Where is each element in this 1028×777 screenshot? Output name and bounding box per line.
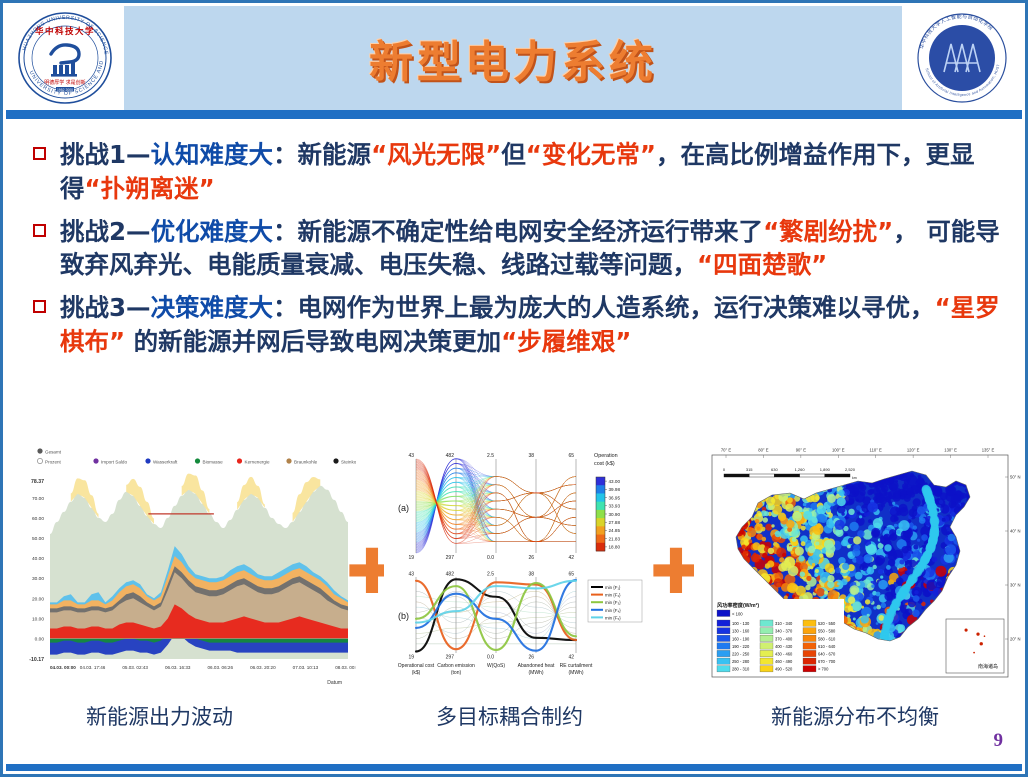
hust-logo: 华中科技大学 明德厚学 求是创新 1952 2000 HUAZHONG UNIV… <box>6 6 124 110</box>
svg-text:110° E: 110° E <box>870 448 883 453</box>
svg-text:19: 19 <box>408 655 414 661</box>
svg-text:482: 482 <box>446 572 455 578</box>
svg-text:W(QoS): W(QoS) <box>487 663 505 669</box>
bullet-1-seg-4: 但 <box>501 140 526 169</box>
svg-text:Abandoned heat: Abandoned heat <box>518 663 555 669</box>
svg-text:30° N: 30° N <box>1010 583 1021 588</box>
svg-text:50° N: 50° N <box>1010 475 1021 480</box>
svg-text:Steinkohle: Steinkohle <box>341 460 356 465</box>
svg-text:Carbon emission: Carbon emission <box>437 663 475 669</box>
slide-root: 华中科技大学 明德厚学 求是创新 1952 2000 HUAZHONG UNIV… <box>0 0 1028 777</box>
svg-text:70.00: 70.00 <box>32 496 44 502</box>
svg-text:630: 630 <box>771 467 778 472</box>
svg-text:(MWh): (MWh) <box>529 670 544 676</box>
svg-text:18.80: 18.80 <box>609 545 621 550</box>
svg-text:Braunkohle: Braunkohle <box>294 460 318 465</box>
svg-text:100° E: 100° E <box>832 448 845 453</box>
svg-text:20° N: 20° N <box>1010 637 1021 642</box>
svg-text:Biomasse: Biomasse <box>203 460 224 465</box>
svg-text:06.03. 16:33: 06.03. 16:33 <box>165 665 191 670</box>
svg-text:南海诸岛: 南海诸岛 <box>978 663 998 670</box>
svg-text:20.00: 20.00 <box>32 596 44 602</box>
svg-text:< 100: < 100 <box>732 611 743 616</box>
bullet-3-seg-4: 的新能源并网后导致电网决策更加 <box>125 327 501 356</box>
bullet-2-seg-5: “四面楚歌” <box>697 250 827 279</box>
caption-2: 多目标耦合制约 <box>436 701 583 731</box>
svg-text:0.0: 0.0 <box>487 555 494 561</box>
svg-text:430 - 460: 430 - 460 <box>775 652 793 657</box>
svg-text:640 - 670: 640 - 670 <box>818 652 836 657</box>
svg-text:42: 42 <box>568 555 574 561</box>
svg-text:40° N: 40° N <box>1010 529 1021 534</box>
slide-title: 新型电力系统 <box>124 26 902 90</box>
svg-text:min {F₃}: min {F₃} <box>605 600 621 605</box>
parallel-coordinates-chart: (a)43194822972.50.038266542Operationcost… <box>384 441 646 695</box>
svg-text:120° E: 120° E <box>907 448 920 453</box>
svg-text:(a): (a) <box>398 503 409 513</box>
svg-text:490 - 520: 490 - 520 <box>775 667 793 672</box>
svg-text:30.00: 30.00 <box>32 576 44 582</box>
aia-logo: 华中科技大学人工智能与自动化学院 School of Artificial In… <box>902 6 1022 110</box>
svg-text:19: 19 <box>408 555 414 561</box>
svg-text:km: km <box>852 476 857 480</box>
svg-text:33.93: 33.93 <box>609 504 621 509</box>
svg-text:70° E: 70° E <box>721 448 731 453</box>
svg-text:min {F₂}: min {F₂} <box>605 593 621 598</box>
svg-text:Import Saldo: Import Saldo <box>101 460 127 465</box>
svg-text:30.90: 30.90 <box>609 512 621 517</box>
svg-text:min {F₁}: min {F₁} <box>605 585 621 590</box>
svg-text:610 - 640: 610 - 640 <box>818 644 836 649</box>
svg-text:明德厚学 求是创新: 明德厚学 求是创新 <box>44 79 85 86</box>
svg-text:40.00: 40.00 <box>32 556 44 562</box>
bullet-3-seg-2: ：电网作为世界上最为庞大的人造系统，运行决策难以寻优， <box>273 293 935 322</box>
bullet-text-2: 挑战2—优化难度大：新能源不确定性给电网安全经济运行带来了“繁剧纷扰”， 可能导… <box>60 215 1003 283</box>
svg-text:297: 297 <box>446 555 455 561</box>
svg-text:43: 43 <box>408 572 414 578</box>
svg-text:10.00: 10.00 <box>32 616 44 622</box>
svg-text:482: 482 <box>446 453 455 459</box>
svg-text:风功率密度(W/m²): 风功率密度(W/m²) <box>717 601 759 609</box>
svg-text:cost (k$): cost (k$) <box>594 461 615 467</box>
bullet-marker-icon <box>33 147 46 160</box>
svg-text:-10.17: -10.17 <box>29 657 44 663</box>
svg-text:(ton): (ton) <box>451 670 462 676</box>
svg-text:297: 297 <box>446 655 455 661</box>
svg-text:Gesamt: Gesamt <box>45 450 62 455</box>
svg-text:0.00: 0.00 <box>35 637 45 643</box>
bullet-3-seg-0: 挑战3— <box>60 293 151 322</box>
bullet-1-seg-5: “变化无常” <box>526 140 656 169</box>
svg-text:160 - 190: 160 - 190 <box>732 636 750 641</box>
figure-captions: 新能源出力波动 多目标耦合制约 新能源分布不均衡 <box>6 701 1022 737</box>
svg-text:26: 26 <box>528 655 534 661</box>
svg-text:580 - 610: 580 - 610 <box>818 636 836 641</box>
bullet-2-seg-3: “繁剧纷扰” <box>763 217 893 246</box>
svg-text:2.5: 2.5 <box>487 572 494 578</box>
svg-text:Datum: Datum <box>327 680 342 686</box>
svg-text:(MWh): (MWh) <box>569 670 584 676</box>
svg-text:(k$): (k$) <box>412 670 421 676</box>
svg-text:min {F₅}: min {F₅} <box>605 615 621 620</box>
svg-text:100 - 130: 100 - 130 <box>732 621 750 626</box>
bullet-1-seg-1: 认知难度大 <box>151 140 274 169</box>
svg-text:310 - 340: 310 - 340 <box>775 621 793 626</box>
svg-text:90° E: 90° E <box>796 448 806 453</box>
svg-text:250 - 280: 250 - 280 <box>732 659 750 664</box>
svg-text:1,260: 1,260 <box>795 467 806 472</box>
svg-text:2.5: 2.5 <box>487 453 494 459</box>
svg-text:460 - 490: 460 - 490 <box>775 659 793 664</box>
svg-text:> 700: > 700 <box>818 667 829 672</box>
bullet-1-seg-2: ：新能源 <box>273 140 371 169</box>
svg-text:65: 65 <box>568 453 574 459</box>
svg-text:400 - 430: 400 - 430 <box>775 644 793 649</box>
footer-band <box>6 764 1022 771</box>
svg-text:550 - 580: 550 - 580 <box>818 629 836 634</box>
svg-text:0.0: 0.0 <box>487 655 494 661</box>
svg-text:RE curtailment: RE curtailment <box>560 663 593 669</box>
svg-text:Wasserkraft: Wasserkraft <box>153 460 178 465</box>
china-wind-density-map: 70° E80° E90° E100° E110° E120° E130° E1… <box>694 441 1024 691</box>
bullet-3-seg-1: 决策难度大 <box>151 293 274 322</box>
figure-row: GesamtProzentImport SaldoWasserkraftBiom… <box>6 441 1022 703</box>
bullet-list: 挑战1—认知难度大：新能源“风光无限”但“变化无常”，在高比例增益作用下，更显得… <box>33 138 1003 368</box>
bullet-2-seg-0: 挑战2— <box>60 217 151 246</box>
energy-stack-chart: GesamtProzentImport SaldoWasserkraftBiom… <box>10 441 356 695</box>
svg-text:65: 65 <box>568 572 574 578</box>
svg-text:315: 315 <box>746 467 753 472</box>
svg-text:21.83: 21.83 <box>609 536 621 541</box>
bullet-item-3: 挑战3—决策难度大：电网作为世界上最为庞大的人造系统，运行决策难以寻优，“星罗棋… <box>33 291 1003 359</box>
svg-text:220 - 250: 220 - 250 <box>732 652 750 657</box>
bullet-2-seg-1: 优化难度大 <box>151 217 274 246</box>
hust-seal-icon: 华中科技大学 明德厚学 求是创新 1952 2000 HUAZHONG UNIV… <box>11 10 119 106</box>
svg-text:07.03. 10:13: 07.03. 10:13 <box>293 665 319 670</box>
caption-3: 新能源分布不均衡 <box>771 701 939 731</box>
svg-text:38: 38 <box>528 453 534 459</box>
figure-china-wind-map: 70° E80° E90° E100° E110° E120° E130° E1… <box>694 441 1024 691</box>
svg-text:42: 42 <box>568 655 574 661</box>
svg-text:1,890: 1,890 <box>820 467 831 472</box>
svg-text:340 - 370: 340 - 370 <box>775 629 793 634</box>
svg-text:26: 26 <box>528 555 534 561</box>
bullet-text-3: 挑战3—决策难度大：电网作为世界上最为庞大的人造系统，运行决策难以寻优，“星罗棋… <box>60 291 1003 359</box>
svg-text:04.03. 17:46: 04.03. 17:46 <box>80 665 106 670</box>
caption-1: 新能源出力波动 <box>86 701 233 731</box>
figure-parallel-coords: (a)43194822972.50.038266542Operationcost… <box>384 441 646 695</box>
bullet-1-seg-0: 挑战1— <box>60 140 151 169</box>
svg-text:06.03. 20:20: 06.03. 20:20 <box>250 665 276 670</box>
svg-text:华中科技大学: 华中科技大学 <box>35 26 95 36</box>
bullet-1-seg-3: “风光无限” <box>371 140 501 169</box>
bullet-2-seg-2: ：新能源不确定性给电网安全经济运行带来了 <box>273 217 763 246</box>
bullet-marker-icon <box>33 300 46 313</box>
svg-text:520 - 550: 520 - 550 <box>818 621 836 626</box>
svg-text:Prozent: Prozent <box>45 460 62 465</box>
svg-text:08.03. 00:06: 08.03. 00:06 <box>335 665 356 670</box>
svg-text:80° E: 80° E <box>758 448 768 453</box>
svg-text:04.03. 00:00: 04.03. 00:00 <box>50 665 76 670</box>
svg-text:190 - 220: 190 - 220 <box>732 644 750 649</box>
bullet-text-1: 挑战1—认知难度大：新能源“风光无限”但“变化无常”，在高比例增益作用下，更显得… <box>60 138 1003 206</box>
svg-text:24.85: 24.85 <box>609 528 621 533</box>
svg-text:36.95: 36.95 <box>609 495 621 500</box>
aia-seal-icon: 华中科技大学人工智能与自动化学院 School of Artificial In… <box>911 10 1013 106</box>
figure-energy-stack: GesamtProzentImport SaldoWasserkraftBiom… <box>10 441 356 695</box>
svg-text:78.37: 78.37 <box>31 479 44 485</box>
header-bottom-band <box>6 110 1022 119</box>
svg-text:27.88: 27.88 <box>609 520 621 525</box>
svg-text:2,520: 2,520 <box>845 467 856 472</box>
svg-text:39.98: 39.98 <box>609 487 621 492</box>
svg-text:130° E: 130° E <box>944 448 957 453</box>
svg-text:135° E: 135° E <box>982 448 995 453</box>
bullet-item-1: 挑战1—认知难度大：新能源“风光无限”但“变化无常”，在高比例增益作用下，更显得… <box>33 138 1003 206</box>
bullet-item-2: 挑战2—优化难度大：新能源不确定性给电网安全经济运行带来了“繁剧纷扰”， 可能导… <box>33 215 1003 283</box>
svg-text:(b): (b) <box>398 611 409 621</box>
svg-text:06.03. 06:26: 06.03. 06:26 <box>208 665 234 670</box>
svg-text:60.00: 60.00 <box>32 516 44 522</box>
svg-text:43.00: 43.00 <box>609 479 621 484</box>
svg-text:43: 43 <box>408 453 414 459</box>
svg-text:280 - 310: 280 - 310 <box>732 667 750 672</box>
slide-header: 华中科技大学 明德厚学 求是创新 1952 2000 HUAZHONG UNIV… <box>6 6 1022 110</box>
svg-text:min {F₄}: min {F₄} <box>605 608 621 613</box>
svg-text:Operational cost: Operational cost <box>398 663 435 669</box>
svg-text:370 - 400: 370 - 400 <box>775 636 793 641</box>
svg-text:05.03. 02:43: 05.03. 02:43 <box>122 665 148 670</box>
page-number: 9 <box>994 730 1004 752</box>
svg-text:50.00: 50.00 <box>32 536 44 542</box>
bullet-3-seg-5: “步履维艰” <box>501 327 631 356</box>
svg-text:670 - 700: 670 - 700 <box>818 659 836 664</box>
svg-text:38: 38 <box>528 572 534 578</box>
bullet-marker-icon <box>33 224 46 237</box>
svg-text:130 - 160: 130 - 160 <box>732 629 750 634</box>
svg-text:Operation: Operation <box>594 453 618 459</box>
svg-text:Kernenergie: Kernenergie <box>245 460 270 465</box>
bullet-1-seg-7: “扑朔离迷” <box>85 174 215 203</box>
